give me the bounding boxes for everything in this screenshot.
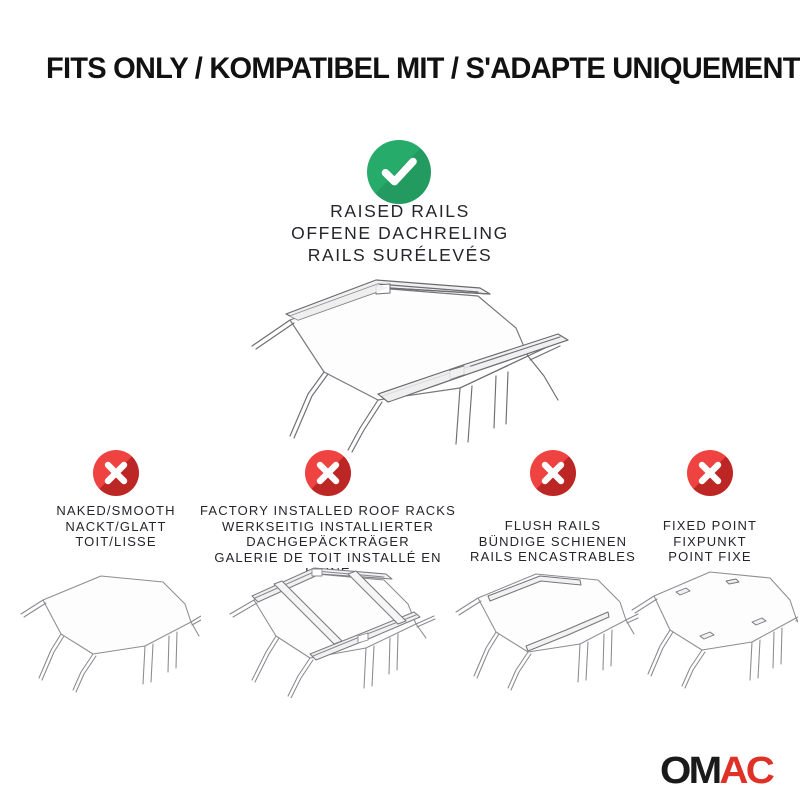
label-line-1: FIXED POINT <box>620 518 800 534</box>
red-x-circle-icon <box>687 450 733 496</box>
compatible-label-line-3: RAILS SURÉLEVÉS <box>0 245 800 266</box>
x-glyph-icon <box>93 450 139 496</box>
compatible-label-line-1: RAISED RAILS <box>0 201 800 222</box>
car-roof-naked-smooth-illustration <box>5 560 201 700</box>
label-line-1: NAKED/SMOOTH <box>0 503 232 519</box>
compatible-label-line-2: OFFENE DACHRELING <box>0 223 800 244</box>
red-x-circle-icon <box>93 450 139 496</box>
label-line-1: FACTORY INSTALLED ROOF RACKS <box>200 503 456 519</box>
red-x-circle-icon <box>530 450 576 496</box>
label-line-2: NACKT/GLATT <box>0 519 232 535</box>
page-title: FITS ONLY / KOMPATIBEL MIT / S'ADAPTE UN… <box>46 52 765 86</box>
x-glyph-icon <box>530 450 576 496</box>
label-line-2: FIXPUNKT <box>620 534 800 550</box>
car-roof-factory-roof-rack-illustration <box>208 548 436 703</box>
check-glyph-icon <box>367 140 431 204</box>
x-glyph-icon <box>305 450 351 496</box>
logo-text-dark: OM <box>660 750 719 792</box>
red-x-circle-icon <box>305 450 351 496</box>
label-line-3: TOIT/LISSE <box>0 534 232 550</box>
incompatible-label: NAKED/SMOOTH NACKT/GLATT TOIT/LISSE <box>0 503 232 550</box>
car-roof-fixed-point-illustration <box>618 556 798 696</box>
omac-logo: OMAC <box>660 752 772 790</box>
green-check-circle-icon <box>367 140 431 204</box>
logo-text-red: AC <box>719 750 772 792</box>
x-glyph-icon <box>687 450 733 496</box>
label-line-2: WERKSEITIG INSTALLIERTER <box>200 519 456 535</box>
car-roof-with-raised-rails-illustration <box>228 268 576 458</box>
car-roof-flush-rails-illustration <box>440 558 640 698</box>
